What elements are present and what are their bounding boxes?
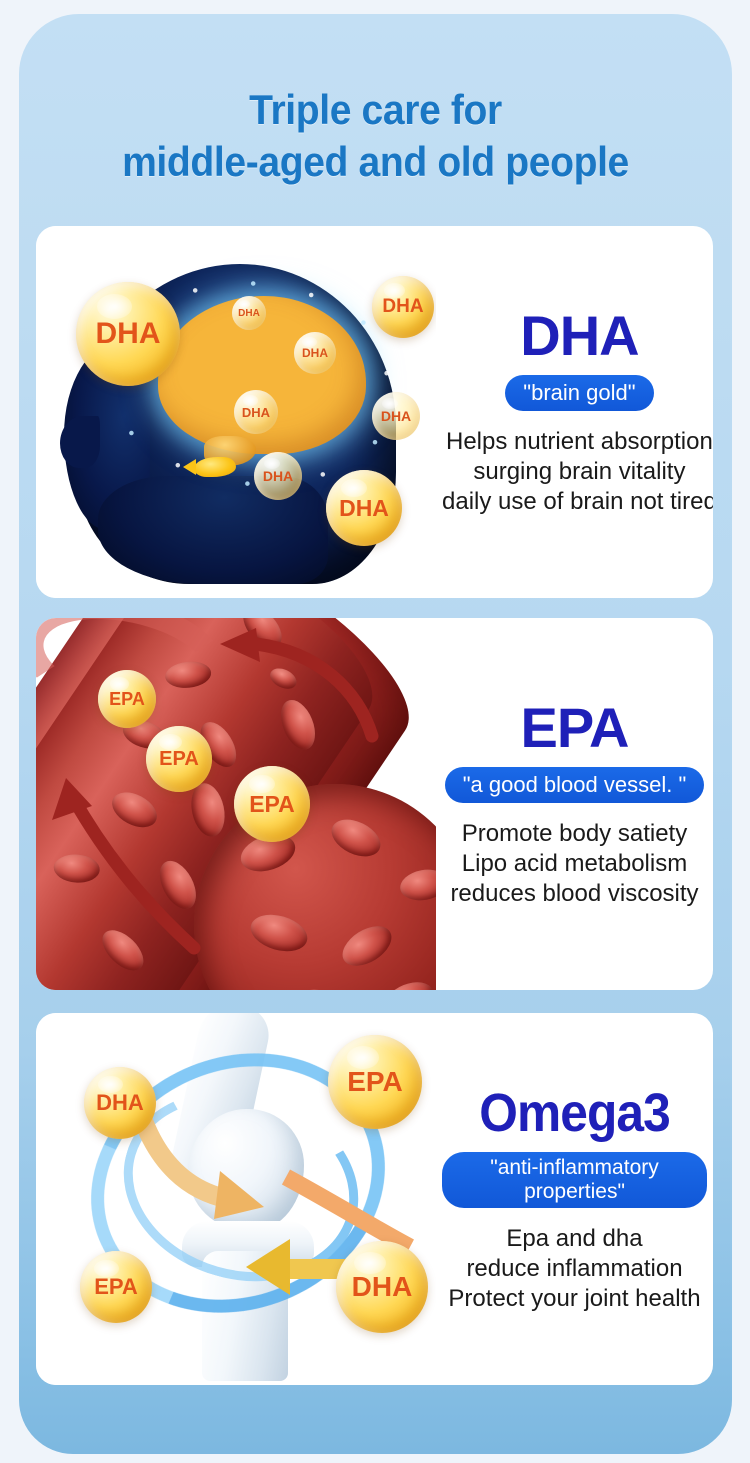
panel-copy-dha: DHA "brain gold" Helps nutrient absorpti… — [436, 226, 713, 598]
epa-bubble: EPA — [328, 1035, 422, 1129]
epa-bubble: EPA — [98, 670, 156, 728]
arrow-dha-to-joint-icon — [132, 1095, 282, 1225]
dha-bubble: DHA — [372, 392, 420, 440]
blue-panel: Triple care for middle-aged and old peop… — [19, 14, 732, 1454]
panel-description-omega3: Epa and dha reduce inflammation Protect … — [448, 1224, 700, 1314]
panel-copy-omega3: Omega3 "anti-inflammatory properties" Ep… — [436, 1013, 713, 1385]
blood-vessel-illustration: EPA EPA EPA — [36, 618, 436, 990]
description-line: Lipo acid metabolism — [450, 849, 698, 879]
epa-bubble: EPA — [80, 1251, 152, 1323]
dha-bubble: DHA — [326, 470, 402, 546]
page-title-line-1: Triple care for — [44, 84, 707, 136]
epa-bubble: EPA — [234, 766, 310, 842]
red-blood-cell — [326, 812, 387, 864]
red-blood-cell — [246, 909, 311, 958]
dha-bubble: DHA — [336, 1241, 428, 1333]
dha-bubble: DHA — [254, 452, 302, 500]
panel-heading-dha: DHA — [520, 307, 638, 365]
knee-joint-illustration: DHA EPA EPA DHA — [36, 1013, 436, 1385]
dha-bubble: DHA — [372, 276, 434, 338]
dha-bubble: DHA — [232, 296, 266, 330]
panel-heading-omega3: Omega3 — [479, 1084, 670, 1142]
panel-copy-epa: EPA "a good blood vessel. " Promote body… — [436, 618, 713, 990]
head-figure: DHA DHA DHA DHA DHA DHA DHA DHA — [54, 244, 422, 584]
red-blood-cell — [288, 986, 348, 990]
panel-badge-epa: "a good blood vessel. " — [445, 767, 705, 803]
page-header: Triple care for middle-aged and old peop… — [19, 14, 732, 188]
panel-description-epa: Promote body satiety Lipo acid metabolis… — [450, 819, 698, 909]
description-line: Promote body satiety — [450, 819, 698, 849]
panel-description-dha: Helps nutrient absorption surging brain … — [442, 427, 713, 517]
brain-head-illustration: DHA DHA DHA DHA DHA DHA DHA DHA — [36, 226, 436, 598]
panel-heading-epa: EPA — [521, 699, 629, 757]
page-title-line-2: middle-aged and old people — [44, 136, 707, 188]
panel-card-omega3[interactable]: DHA EPA EPA DHA Omega3 "anti-inflammator… — [36, 1013, 713, 1385]
red-blood-cell — [336, 918, 399, 974]
red-blood-cell — [380, 976, 436, 990]
red-blood-cell — [398, 866, 436, 904]
panel-card-epa[interactable]: EPA EPA EPA EPA "a good blood vessel. " … — [36, 618, 713, 990]
dha-bubble: DHA — [294, 332, 336, 374]
epa-bubble: EPA — [146, 726, 212, 792]
description-line: Epa and dha — [448, 1224, 700, 1254]
dha-bubble: DHA — [234, 390, 278, 434]
panel-badge-dha: "brain gold" — [505, 375, 653, 411]
flow-arrow-upper-icon — [190, 624, 380, 746]
infographic-page: Triple care for middle-aged and old peop… — [0, 0, 750, 1463]
head-nose — [60, 416, 100, 468]
description-line: reduces blood viscosity — [450, 879, 698, 909]
panel-badge-omega3: "anti-inflammatory properties" — [442, 1152, 707, 1208]
description-line: reduce inflammation — [448, 1254, 700, 1284]
panel-card-dha[interactable]: DHA DHA DHA DHA DHA DHA DHA DHA DHA "bra… — [36, 226, 713, 598]
description-line: Protect your joint health — [448, 1284, 700, 1314]
description-line: daily use of brain not tired — [442, 487, 713, 517]
description-line: surging brain vitality — [442, 457, 713, 487]
dha-bubble: DHA — [76, 282, 180, 386]
description-line: Helps nutrient absorption — [442, 427, 713, 457]
dha-bubble: DHA — [84, 1067, 156, 1139]
